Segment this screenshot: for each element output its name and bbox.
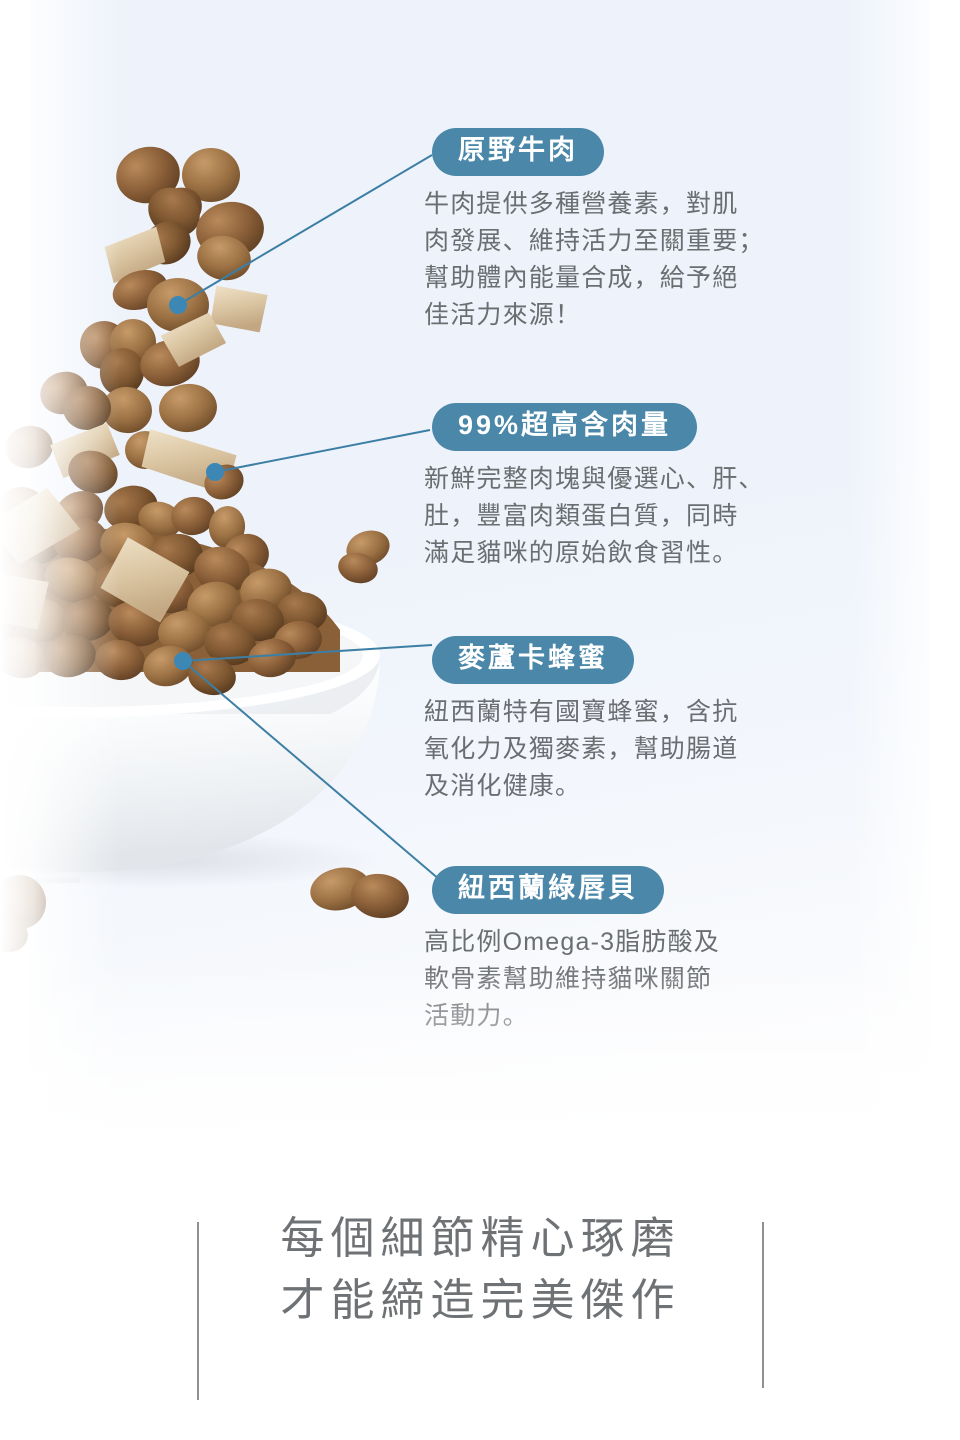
shared-connector-dot	[174, 652, 192, 670]
feature-meat-content-description: 新鮮完整肉塊與優選心、肝、 肚，豐富肉類蛋白質，同時 滿足貓咪的原始飲食習性。	[424, 461, 884, 572]
feature-beef-label[interactable]: 原野牛肉	[432, 128, 604, 176]
beef-connector	[169, 155, 432, 314]
manuka-honey-connector	[183, 645, 432, 661]
feature-beef-description: 牛肉提供多種營養素，對肌 肉發展、維持活力至關重要； 幫助體內能量合成，給予絕 …	[424, 186, 884, 334]
promo-page: 原野牛肉 牛肉提供多種營養素，對肌 肉發展、維持活力至關重要； 幫助體內能量合成…	[0, 0, 960, 1440]
feature-beef: 原野牛肉 牛肉提供多種營養素，對肌 肉發展、維持活力至關重要； 幫助體內能量合成…	[424, 128, 884, 334]
feature-green-lipped-mussel-description: 高比例Omega-3脂肪酸及 軟骨素幫助維持貓咪關節 活動力。	[424, 924, 884, 1035]
meat-content-connector	[206, 430, 430, 481]
background-fade-left	[0, 0, 120, 1180]
feature-green-lipped-mussel-label[interactable]: 紐西蘭綠唇貝	[432, 866, 664, 914]
feature-manuka-honey-label[interactable]: 麥蘆卡蜂蜜	[432, 636, 634, 684]
feature-manuka-honey-description: 紐西蘭特有國寶蜂蜜，含抗 氧化力及獨麥素，幫助腸道 及消化健康。	[424, 694, 884, 805]
feature-manuka-honey: 麥蘆卡蜂蜜 紐西蘭特有國寶蜂蜜，含抗 氧化力及獨麥素，幫助腸道 及消化健康。	[424, 636, 884, 805]
slogan-text: 每個細節精心琢磨 才能締造完美傑作	[197, 1208, 764, 1333]
slogan-section: 每個細節精心琢磨 才能締造完美傑作	[0, 1200, 960, 1420]
feature-green-lipped-mussel: 紐西蘭綠唇貝 高比例Omega-3脂肪酸及 軟骨素幫助維持貓咪關節 活動力。	[424, 866, 884, 1035]
green-lipped-mussel-connector	[183, 661, 440, 880]
feature-meat-content-label[interactable]: 99%超高含肉量	[432, 403, 697, 451]
feature-meat-content: 99%超高含肉量 新鮮完整肉塊與優選心、肝、 肚，豐富肉類蛋白質，同時 滿足貓咪…	[424, 403, 884, 572]
